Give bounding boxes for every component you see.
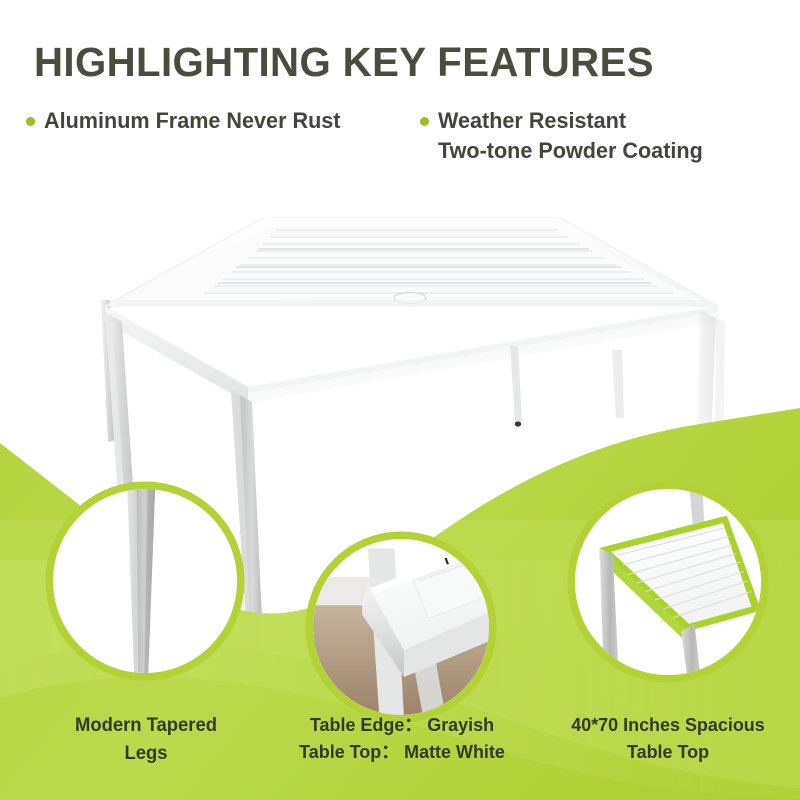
table-top-closeup xyxy=(575,489,761,675)
bullet-dot-icon xyxy=(420,117,429,126)
feature-bullet-2-label: Weather Resistant Two-tone Powder Coatin… xyxy=(438,106,703,166)
feature-circle-table-edge-finish[interactable] xyxy=(308,534,494,720)
header-section: HIGHLIGHTING KEY FEATURES Aluminum Frame… xyxy=(0,0,800,180)
infographic-page: HIGHLIGHTING KEY FEATURES Aluminum Frame… xyxy=(0,0,800,800)
feature-circle-modern-tapered-legs[interactable] xyxy=(48,484,242,678)
feature-bullet-1: Aluminum Frame Never Rust xyxy=(26,106,353,136)
bullet-dot-icon xyxy=(26,117,35,126)
page-title: HIGHLIGHTING KEY FEATURES xyxy=(34,42,759,83)
feature-caption-modern-tapered-legs: Modern Tapered Legs xyxy=(43,712,249,767)
feature-caption-spacious-table-top: 40*70 Inches Spacious Table Top xyxy=(552,712,785,766)
feature-caption-table-edge-finish: Table Edge： Grayish Table Top： Matte Whi… xyxy=(272,712,532,766)
feature-bullet-1-label: Aluminum Frame Never Rust xyxy=(44,106,340,136)
feature-bullet-2: Weather Resistant Two-tone Powder Coatin… xyxy=(420,106,714,166)
feature-circle-spacious-table-top[interactable] xyxy=(570,484,766,680)
tapered-leg-closeup xyxy=(53,489,237,673)
table-corner-closeup xyxy=(313,539,489,715)
